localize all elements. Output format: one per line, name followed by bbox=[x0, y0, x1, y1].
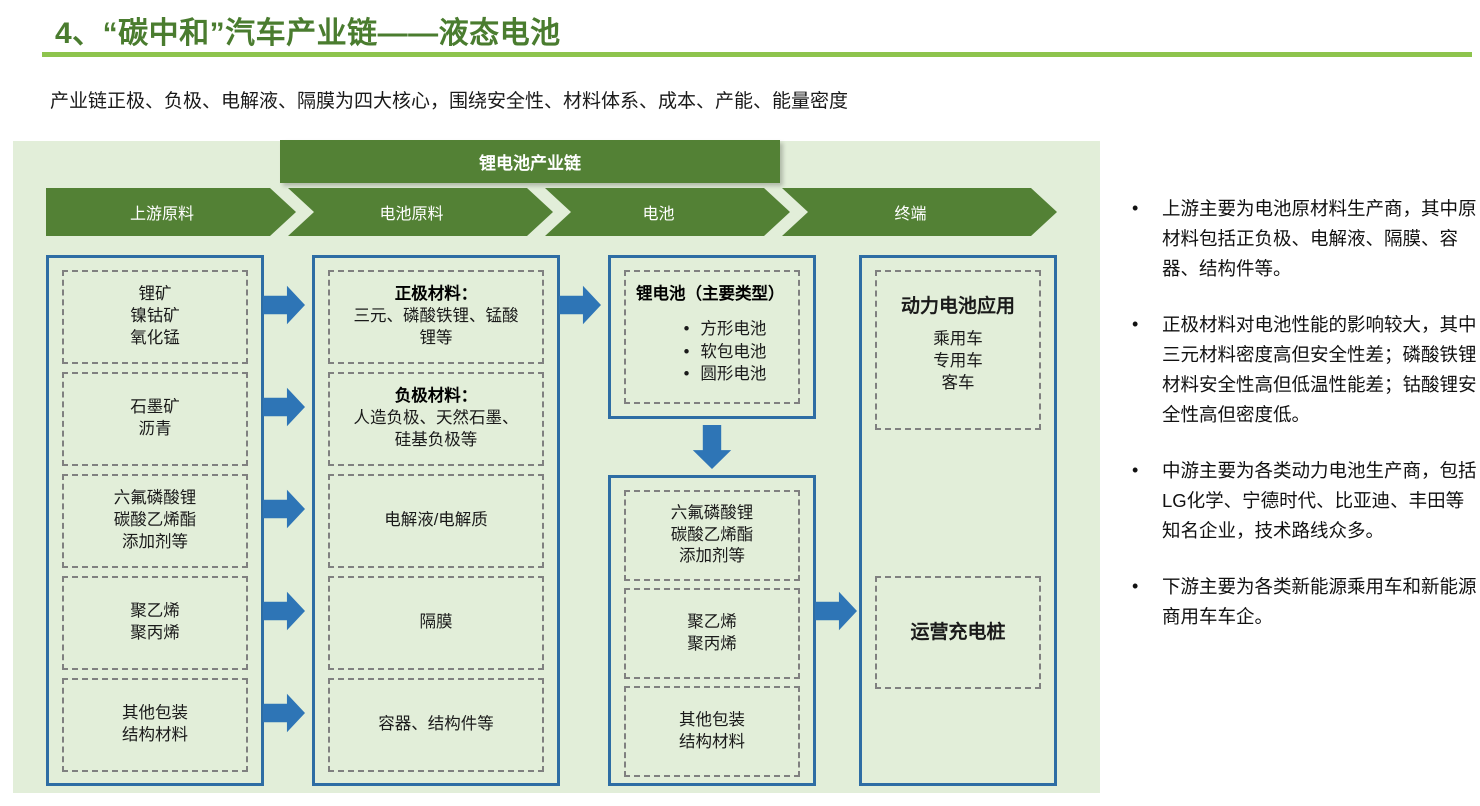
upstream-box-5[interactable]: 其他包装 结构材料 bbox=[62, 678, 248, 772]
note-item: • 中游主要为各类动力电池生产商，包括LG化学、宁德时代、比亚迪、丰田等知名企业… bbox=[1122, 456, 1478, 546]
materials-box-cathode-line-1: 三元、磷酸铁锂、锰酸 bbox=[354, 306, 519, 328]
battery-types-heading: 锂电池（主要类型） bbox=[632, 284, 785, 306]
stage-battery-materials-label: 电池原料 bbox=[379, 200, 461, 224]
terminal-charging-pile-heading: 运营充电桩 bbox=[910, 620, 1005, 645]
terminal-power-battery-heading: 动力电池应用 bbox=[901, 294, 1015, 319]
upstream-box-1-line-3: 氧化锰 bbox=[130, 328, 180, 350]
upstream-box-3-line-2: 碳酸乙烯酯 bbox=[114, 510, 197, 532]
terminal-power-battery-line-2: 专用车 bbox=[933, 351, 983, 373]
note-item: • 上游主要为电池原材料生产商，其中原材料包括正负极、电解液、隔膜、容器、结构件… bbox=[1122, 194, 1478, 284]
upstream-box-4[interactable]: 聚乙烯 聚丙烯 bbox=[62, 576, 248, 670]
terminal-box-charging-pile[interactable]: 运营充电桩 bbox=[875, 576, 1041, 689]
battery-type-item: 圆形电池 bbox=[684, 363, 767, 386]
flow-arrow-right-icon bbox=[815, 591, 857, 631]
materials-box-anode-line-2: 硅基负极等 bbox=[395, 430, 478, 452]
battery-type-item: 软包电池 bbox=[684, 341, 767, 364]
materials-box-cathode[interactable]: 正极材料： 三元、磷酸铁锂、锰酸 锂等 bbox=[328, 270, 544, 364]
flow-arrow-right-icon bbox=[263, 591, 305, 631]
column-upstream: 锂矿 镍钴矿 氧化锰 石墨矿 沥青 六氟磷酸锂 碳酸乙烯酯 添加剂等 聚乙烯 聚… bbox=[46, 255, 264, 786]
materials-box-cathode-line-2: 锂等 bbox=[420, 328, 453, 350]
battery-box-3[interactable]: 其他包装 结构材料 bbox=[624, 686, 800, 777]
note-item: • 正极材料对电池性能的影响较大，其中三元材料密度高但安全性差；磷酸铁锂材料安全… bbox=[1122, 310, 1478, 430]
note-item-text: 中游主要为各类动力电池生产商，包括LG化学、宁德时代、比亚迪、丰田等知名企业，技… bbox=[1162, 460, 1477, 541]
materials-box-casing[interactable]: 容器、结构件等 bbox=[328, 678, 544, 772]
flow-arrow-right-icon bbox=[559, 285, 601, 325]
column-battery-top: 锂电池（主要类型） 方形电池 软包电池 圆形电池 bbox=[608, 255, 816, 419]
bullet-dot-icon: • bbox=[1132, 194, 1138, 223]
materials-box-separator[interactable]: 隔膜 bbox=[328, 576, 544, 670]
materials-box-electrolyte[interactable]: 电解液/电解质 bbox=[328, 474, 544, 568]
materials-box-anode-heading: 负极材料： bbox=[395, 386, 478, 408]
note-item-text: 正极材料对电池性能的影响较大，其中三元材料密度高但安全性差；磷酸铁锂材料安全性高… bbox=[1162, 314, 1477, 425]
upstream-box-1[interactable]: 锂矿 镍钴矿 氧化锰 bbox=[62, 270, 248, 364]
stage-upstream-label: 上游原料 bbox=[130, 200, 212, 224]
column-battery-bottom: 六氟磷酸锂 碳酸乙烯酯 添加剂等 聚乙烯 聚丙烯 其他包装 结构材料 bbox=[608, 475, 816, 786]
upstream-box-4-line-2: 聚丙烯 bbox=[130, 623, 180, 645]
upstream-box-4-line-1: 聚乙烯 bbox=[130, 601, 180, 623]
battery-box-1-line-2: 碳酸乙烯酯 bbox=[671, 525, 754, 547]
battery-box-2-line-2: 聚丙烯 bbox=[687, 634, 737, 656]
battery-types-bullet-list: 方形电池 软包电池 圆形电池 bbox=[658, 318, 767, 386]
battery-box-2[interactable]: 聚乙烯 聚丙烯 bbox=[624, 588, 800, 679]
bullet-dot-icon: • bbox=[1132, 572, 1138, 601]
terminal-power-battery-line-3: 客车 bbox=[942, 373, 975, 395]
bullet-dot-icon: • bbox=[1132, 310, 1138, 339]
page-subtitle: 产业链正极、负极、电解液、隔膜为四大核心，围绕安全性、材料体系、成本、产能、能量… bbox=[50, 86, 848, 113]
bullet-dot-icon: • bbox=[1132, 456, 1138, 485]
stage-terminal[interactable]: 终端 bbox=[782, 188, 1057, 236]
battery-type-item: 方形电池 bbox=[684, 318, 767, 341]
flow-arrow-down-icon bbox=[692, 425, 732, 469]
stage-battery-materials[interactable]: 电池原料 bbox=[288, 188, 553, 236]
materials-box-electrolyte-line-1: 电解液/电解质 bbox=[384, 510, 488, 532]
column-terminal: 动力电池应用 乘用车 专用车 客车 运营充电桩 bbox=[859, 255, 1057, 786]
battery-types-box[interactable]: 锂电池（主要类型） 方形电池 软包电池 圆形电池 bbox=[624, 270, 800, 404]
stage-header-row: 上游原料 电池原料 电池 终端 bbox=[13, 188, 1100, 236]
materials-box-cathode-heading: 正极材料： bbox=[395, 284, 478, 306]
battery-box-3-line-2: 结构材料 bbox=[679, 732, 745, 754]
upstream-box-5-line-2: 结构材料 bbox=[122, 725, 188, 747]
upstream-box-2-line-1: 石墨矿 bbox=[130, 397, 180, 419]
upstream-box-2-line-2: 沥青 bbox=[139, 419, 172, 441]
note-item-text: 下游主要为各类新能源乘用车和新能源商用车车企。 bbox=[1162, 576, 1477, 627]
note-item: • 下游主要为各类新能源乘用车和新能源商用车车企。 bbox=[1122, 572, 1478, 632]
column-battery-materials: 正极材料： 三元、磷酸铁锂、锰酸 锂等 负极材料： 人造负极、天然石墨、 硅基负… bbox=[312, 255, 560, 786]
upstream-box-2[interactable]: 石墨矿 沥青 bbox=[62, 372, 248, 466]
upstream-box-1-line-2: 镍钴矿 bbox=[130, 306, 180, 328]
flow-arrow-right-icon bbox=[263, 489, 305, 529]
chain-banner: 锂电池产业链 bbox=[280, 140, 780, 183]
title-underline-rule bbox=[42, 52, 1472, 57]
battery-box-1-line-1: 六氟磷酸锂 bbox=[671, 503, 754, 525]
battery-box-1[interactable]: 六氟磷酸锂 碳酸乙烯酯 添加剂等 bbox=[624, 490, 800, 581]
stage-terminal-label: 终端 bbox=[894, 200, 944, 224]
materials-box-anode[interactable]: 负极材料： 人造负极、天然石墨、 硅基负极等 bbox=[328, 372, 544, 466]
battery-box-1-line-3: 添加剂等 bbox=[679, 546, 745, 568]
upstream-box-3-line-1: 六氟磷酸锂 bbox=[114, 488, 197, 510]
flow-arrow-right-icon bbox=[263, 387, 305, 427]
battery-box-3-line-1: 其他包装 bbox=[679, 710, 745, 732]
lithium-chain-diagram: 锂电池产业链 上游原料 电池原料 电池 终端 锂矿 镍钴矿 氧化锰 石墨矿 沥青… bbox=[13, 141, 1100, 793]
stage-upstream[interactable]: 上游原料 bbox=[46, 188, 296, 236]
terminal-box-power-battery[interactable]: 动力电池应用 乘用车 专用车 客车 bbox=[875, 270, 1041, 430]
upstream-box-5-line-1: 其他包装 bbox=[122, 703, 188, 725]
notes-panel: • 上游主要为电池原材料生产商，其中原材料包括正负极、电解液、隔膜、容器、结构件… bbox=[1122, 194, 1478, 658]
upstream-box-1-line-1: 锂矿 bbox=[139, 284, 172, 306]
page-title: 4、“碳中和”汽车产业链——液态电池 bbox=[55, 8, 561, 52]
upstream-box-3[interactable]: 六氟磷酸锂 碳酸乙烯酯 添加剂等 bbox=[62, 474, 248, 568]
terminal-power-battery-line-1: 乘用车 bbox=[933, 329, 983, 351]
materials-box-separator-line-1: 隔膜 bbox=[420, 612, 453, 634]
materials-box-anode-line-1: 人造负极、天然石墨、 bbox=[354, 408, 519, 430]
flow-arrow-right-icon bbox=[263, 693, 305, 733]
battery-box-2-line-1: 聚乙烯 bbox=[687, 612, 737, 634]
materials-box-casing-line-1: 容器、结构件等 bbox=[378, 714, 494, 736]
stage-battery[interactable]: 电池 bbox=[545, 188, 790, 236]
flow-arrow-right-icon bbox=[263, 285, 305, 325]
stage-battery-label: 电池 bbox=[642, 200, 692, 224]
upstream-box-3-line-3: 添加剂等 bbox=[122, 532, 188, 554]
note-item-text: 上游主要为电池原材料生产商，其中原材料包括正负极、电解液、隔膜、容器、结构件等。 bbox=[1162, 198, 1477, 279]
